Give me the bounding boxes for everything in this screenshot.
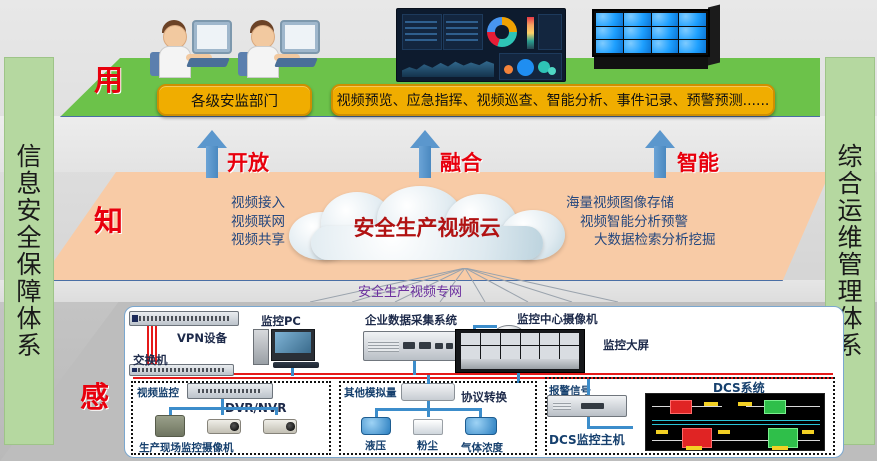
video-wall-screens xyxy=(592,9,710,57)
layer-key-sense: 感 xyxy=(80,374,109,416)
link-line xyxy=(413,361,416,375)
dashboard-scatter xyxy=(538,14,562,50)
link-line xyxy=(587,426,633,429)
link-line xyxy=(473,325,497,328)
label-hydraulic: 液压 xyxy=(365,438,386,453)
side-char: 管 xyxy=(837,251,862,278)
cloud-shape: 安全生产视频云 xyxy=(289,186,565,262)
label-protocol-conversion: 协议转换 xyxy=(461,389,507,405)
side-char: 障 xyxy=(16,278,41,305)
operators-illustration xyxy=(148,8,320,82)
body-shape xyxy=(247,46,279,78)
layer-key-use: 用 xyxy=(94,57,123,99)
side-char: 信 xyxy=(16,143,41,170)
label-other-analog: 其他模拟量 xyxy=(344,385,397,400)
operator-figure xyxy=(148,8,232,82)
dashboard-table-left xyxy=(402,14,442,50)
pc-tower-icon xyxy=(253,329,269,365)
dcs-system-icon xyxy=(645,393,825,451)
label-video-wall: 监控大屏 xyxy=(603,337,649,353)
capability-item: 视频共享 xyxy=(135,231,285,250)
link-line xyxy=(221,407,224,415)
side-char: 全 xyxy=(16,224,41,251)
label-vpn-device: VPN设备 xyxy=(177,330,227,346)
hydraulic-sensor-icon xyxy=(361,417,391,435)
link-line xyxy=(291,368,294,376)
body-shape xyxy=(159,46,191,78)
video-wall-illustration xyxy=(592,9,718,71)
capability-item: 视频智能分析预警 xyxy=(566,213,786,232)
label-data-acquisition-system: 企业数据采集系统 xyxy=(365,312,457,328)
capability-item: 海量视频图像存储 xyxy=(566,194,786,213)
operator-figure xyxy=(236,8,320,82)
arrow-label-open: 开放 xyxy=(227,147,269,177)
keyboard-icon xyxy=(274,58,318,67)
dashboard-illustration xyxy=(396,8,566,82)
sidebar-information-security-system: 信 息 安 全 保 障 体 系 xyxy=(4,57,54,445)
side-char: 综 xyxy=(837,143,862,170)
bus-line-red xyxy=(133,373,833,375)
link-line xyxy=(375,408,378,417)
link-line xyxy=(587,379,590,395)
label-gas-concentration: 气体浓度 xyxy=(461,440,503,455)
arrow-up-icon xyxy=(645,130,675,178)
bullet-camera-icon xyxy=(207,419,241,434)
side-char: 维 xyxy=(837,224,862,251)
label-site-cameras: 生产现场监控摄像机 xyxy=(139,440,234,455)
side-char: 运 xyxy=(837,197,862,224)
cloud-title: 安全生产视频云 xyxy=(289,212,565,242)
label-monitor-pc: 监控PC xyxy=(261,313,301,329)
link-line xyxy=(427,375,430,384)
dcs-host-icon xyxy=(547,395,627,417)
label-center-camera: 监控中心摄像机 xyxy=(517,311,598,327)
side-char: 合 xyxy=(837,170,862,197)
side-char: 安 xyxy=(16,197,41,224)
capability-item: 视频联网 xyxy=(135,213,285,232)
cloud-capabilities-left: 视频接入 视频联网 视频共享 xyxy=(135,194,285,250)
ptz-camera-icon xyxy=(155,415,185,437)
link-line xyxy=(479,408,482,417)
dashboard-table-right xyxy=(443,14,483,50)
side-char: 体 xyxy=(16,305,41,332)
industrial-server-icon xyxy=(363,331,467,361)
link-line xyxy=(427,408,430,417)
arrow-label-intelligent: 智能 xyxy=(677,147,719,177)
side-char: 系 xyxy=(16,332,41,359)
heat-scale-icon xyxy=(527,17,534,49)
label-switch: 交换机 xyxy=(133,352,168,368)
capability-item: 大数据检索分析挖掘 xyxy=(566,231,786,250)
donut-chart-icon xyxy=(487,17,517,47)
label-video-surveillance: 视频监控 xyxy=(137,385,179,400)
arrow-up-icon xyxy=(197,130,227,178)
cloud-capabilities-right: 海量视频图像存储 视频智能分析预警 大数据检索分析挖掘 xyxy=(566,194,786,250)
area-chart-icon xyxy=(402,55,494,77)
vpn-device-icon xyxy=(129,311,239,326)
infrastructure-panel: VPN设备 交换机 监控PC 企业数据采集系统 监控中心摄像机 xyxy=(124,306,844,458)
pc-keyboard-icon xyxy=(273,362,319,368)
protocol-converter-icon xyxy=(401,383,455,401)
control-room-wall-icon xyxy=(455,329,585,373)
pc-monitor-icon xyxy=(271,329,315,361)
network-fan-lines xyxy=(300,268,630,302)
keyboard-icon xyxy=(186,58,230,67)
layer-key-know: 知 xyxy=(94,198,123,240)
dust-sensor-icon xyxy=(413,419,443,435)
label-dust: 粉尘 xyxy=(417,438,438,453)
gas-sensor-icon xyxy=(465,417,497,435)
pill-platform-functions[interactable]: 视频预览、应急指挥、视频巡查、智能分析、事件记录、预警预测...... xyxy=(331,84,775,116)
bullet-camera-icon xyxy=(263,419,297,434)
monitor-icon xyxy=(192,20,232,54)
side-char: 保 xyxy=(16,251,41,278)
dvr-nvr-icon xyxy=(187,383,273,399)
private-network-label: 安全生产视频专网 xyxy=(358,281,462,300)
arrow-up-icon xyxy=(410,130,440,178)
architecture-diagram: 信 息 安 全 保 障 体 系 综 合 运 维 管 理 体 系 用 知 感 各级… xyxy=(0,0,877,461)
label-dcs-host: DCS监控主机 xyxy=(549,431,625,448)
capability-item: 视频接入 xyxy=(135,194,285,213)
monitor-icon xyxy=(280,20,320,54)
arrow-label-fusion: 融合 xyxy=(440,147,482,177)
link-line xyxy=(169,407,172,415)
side-char: 息 xyxy=(16,170,41,197)
video-wall-base xyxy=(594,55,708,69)
side-char: 理 xyxy=(837,278,862,305)
pill-safety-departments[interactable]: 各级安监部门 xyxy=(157,84,312,116)
link-line xyxy=(275,407,278,415)
